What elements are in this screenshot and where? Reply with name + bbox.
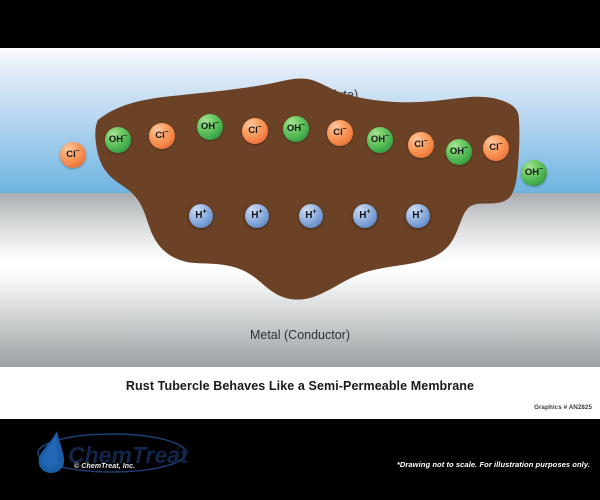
ion-charge: +: [203, 206, 207, 215]
ion-chloride: Cl−: [483, 135, 509, 161]
ion-hydrogen: H+: [245, 204, 269, 228]
ion-label: OH−: [287, 124, 305, 134]
ion-charge: −: [258, 124, 262, 131]
ion-hydroxide: OH−: [521, 160, 547, 186]
ion-charge: −: [215, 120, 219, 127]
ion-label: OH−: [201, 122, 219, 132]
copyright-text: © ChemTreat, Inc.: [74, 463, 135, 470]
ion-chloride: Cl−: [327, 120, 353, 146]
ion-label: H+: [195, 211, 206, 221]
figure-caption: Rust Tubercle Behaves Like a Semi-Permea…: [0, 379, 600, 393]
ion-label: OH−: [525, 168, 543, 178]
illustration-canvas: WATER (Electrolyte) Metal (Conductor) Cl…: [0, 0, 600, 500]
disclaimer-text: *Drawing not to scale. For illustration …: [397, 460, 590, 469]
ion-label: Cl−: [333, 128, 347, 138]
ion-hydroxide: OH−: [367, 127, 393, 153]
ion-hydroxide: OH−: [197, 114, 223, 140]
ion-hydroxide: OH−: [283, 116, 309, 142]
ion-chloride: Cl−: [149, 123, 175, 149]
ion-charge: −: [385, 133, 389, 140]
graphics-number: Graphics # AN2825: [534, 404, 592, 411]
ion-hydrogen: H+: [406, 204, 430, 228]
ion-chloride: Cl−: [242, 118, 268, 144]
ion-label: Cl−: [66, 150, 80, 160]
ion-hydrogen: H+: [189, 204, 213, 228]
ion-label: Cl−: [248, 126, 262, 136]
ion-charge: +: [367, 206, 371, 215]
ion-charge: −: [539, 166, 543, 173]
caption-band: [0, 367, 600, 419]
ion-label: H+: [305, 211, 316, 221]
registered-mark: ®: [176, 445, 181, 453]
ion-chloride: Cl−: [408, 132, 434, 158]
ion-hydroxide: OH−: [105, 127, 131, 153]
ion-label: OH−: [371, 135, 389, 145]
ion-charge: −: [343, 126, 347, 133]
ion-charge: −: [123, 133, 127, 140]
ion-charge: −: [424, 138, 428, 145]
ion-hydroxide: OH−: [446, 139, 472, 165]
ion-label: OH−: [109, 135, 127, 145]
ion-charge: +: [313, 206, 317, 215]
ion-charge: −: [464, 145, 468, 152]
ion-hydrogen: H+: [299, 204, 323, 228]
ion-label: H+: [412, 211, 423, 221]
ion-hydrogen: H+: [353, 204, 377, 228]
ion-label: Cl−: [155, 131, 169, 141]
ion-label: H+: [359, 211, 370, 221]
ion-charge: −: [76, 148, 80, 155]
ion-label: Cl−: [489, 143, 503, 153]
ion-label: H+: [251, 211, 262, 221]
ion-charge: −: [301, 122, 305, 129]
ion-charge: −: [165, 129, 169, 136]
ion-charge: −: [499, 141, 503, 148]
ion-label: Cl−: [414, 140, 428, 150]
ion-label: OH−: [450, 147, 468, 157]
ion-chloride: Cl−: [60, 142, 86, 168]
ion-charge: +: [420, 206, 424, 215]
ion-charge: +: [259, 206, 263, 215]
